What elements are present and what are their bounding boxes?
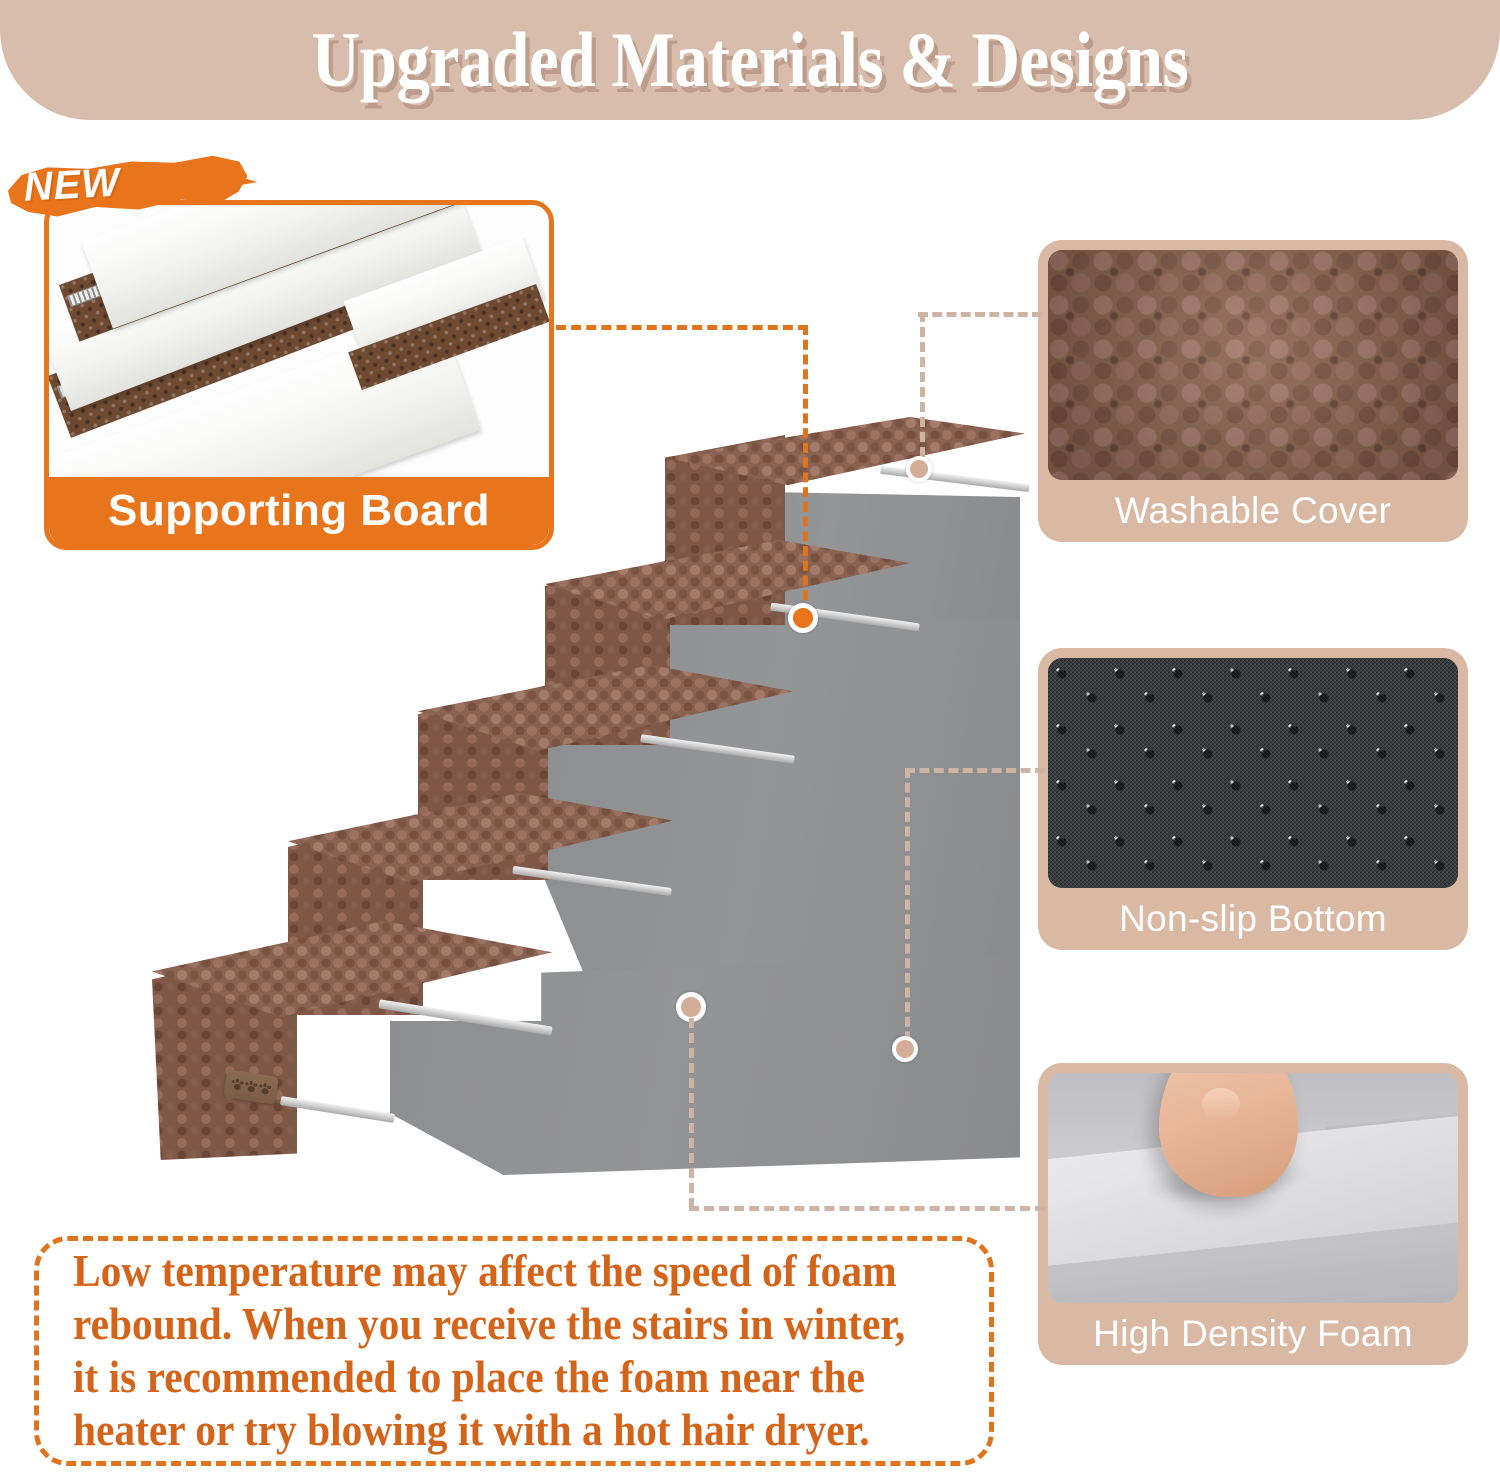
- low-temperature-note: Low temperature may affect the speed of …: [34, 1236, 994, 1466]
- page-title: Upgraded Materials & Designs: [105, 0, 1395, 120]
- high-density-foam-label-text: High Density Foam: [1093, 1313, 1413, 1355]
- step-1-base-trim: [280, 1096, 395, 1123]
- callout-line-washable-cover-horizontal: [918, 312, 1042, 317]
- supporting-board-dot: [788, 603, 818, 633]
- high-density-foam-media: [1048, 1073, 1458, 1303]
- non-slip-bottom-texture: [1048, 658, 1458, 888]
- callout-line-washable-cover-vertical: [920, 312, 925, 472]
- non-slip-bottom-label-text: Non-slip Bottom: [1119, 898, 1387, 940]
- side-panel-lower: [390, 955, 1020, 1175]
- note-line: heater or try blowing it with a hot hair…: [73, 1404, 884, 1457]
- note-line: it is recommended to place the foam near…: [73, 1351, 884, 1404]
- callout-line-supporting-board-vertical: [803, 325, 808, 615]
- non-slip-bottom-media: [1048, 658, 1458, 888]
- infographic-canvas: Upgraded Materials & Designs Supporting …: [0, 0, 1500, 1482]
- panel-high-density-foam: High Density Foam: [1038, 1063, 1468, 1365]
- washable-cover-label-text: Washable Cover: [1115, 490, 1391, 532]
- paw-icon: [244, 1080, 258, 1094]
- washable-cover-media: [1048, 250, 1458, 480]
- washable-cover-texture: [1048, 250, 1458, 480]
- note-line: rebound. When you receive the stairs in …: [73, 1298, 884, 1351]
- panel-non-slip-bottom: Non-slip Bottom: [1038, 648, 1468, 950]
- non-slip-bottom-dot: [892, 1036, 918, 1062]
- callout-line-foam-vertical: [689, 1018, 694, 1208]
- new-badge-label: NEW: [23, 160, 122, 210]
- washable-cover-label: Washable Cover: [1048, 480, 1458, 542]
- panel-washable-cover: Washable Cover: [1038, 240, 1468, 542]
- non-slip-bottom-label: Non-slip Bottom: [1048, 888, 1458, 950]
- hand-highlight: [1202, 1088, 1240, 1120]
- callout-line-supporting-board-horizontal: [556, 325, 808, 330]
- callout-line-non-slip-vertical: [905, 768, 910, 1056]
- paw-icon: [258, 1082, 272, 1096]
- callout-line-foam-horizontal: [689, 1206, 1045, 1211]
- washable-cover-dot: [906, 456, 932, 482]
- paw-icon: [230, 1078, 244, 1092]
- high-density-foam-label: High Density Foam: [1048, 1303, 1458, 1365]
- note-line: Low temperature may affect the speed of …: [73, 1245, 884, 1298]
- product-pet-stairs: [120, 395, 1050, 1195]
- high-density-foam-photo: [1048, 1073, 1458, 1303]
- step-5-trim: [880, 466, 1030, 492]
- callout-line-non-slip-horizontal: [905, 768, 1045, 773]
